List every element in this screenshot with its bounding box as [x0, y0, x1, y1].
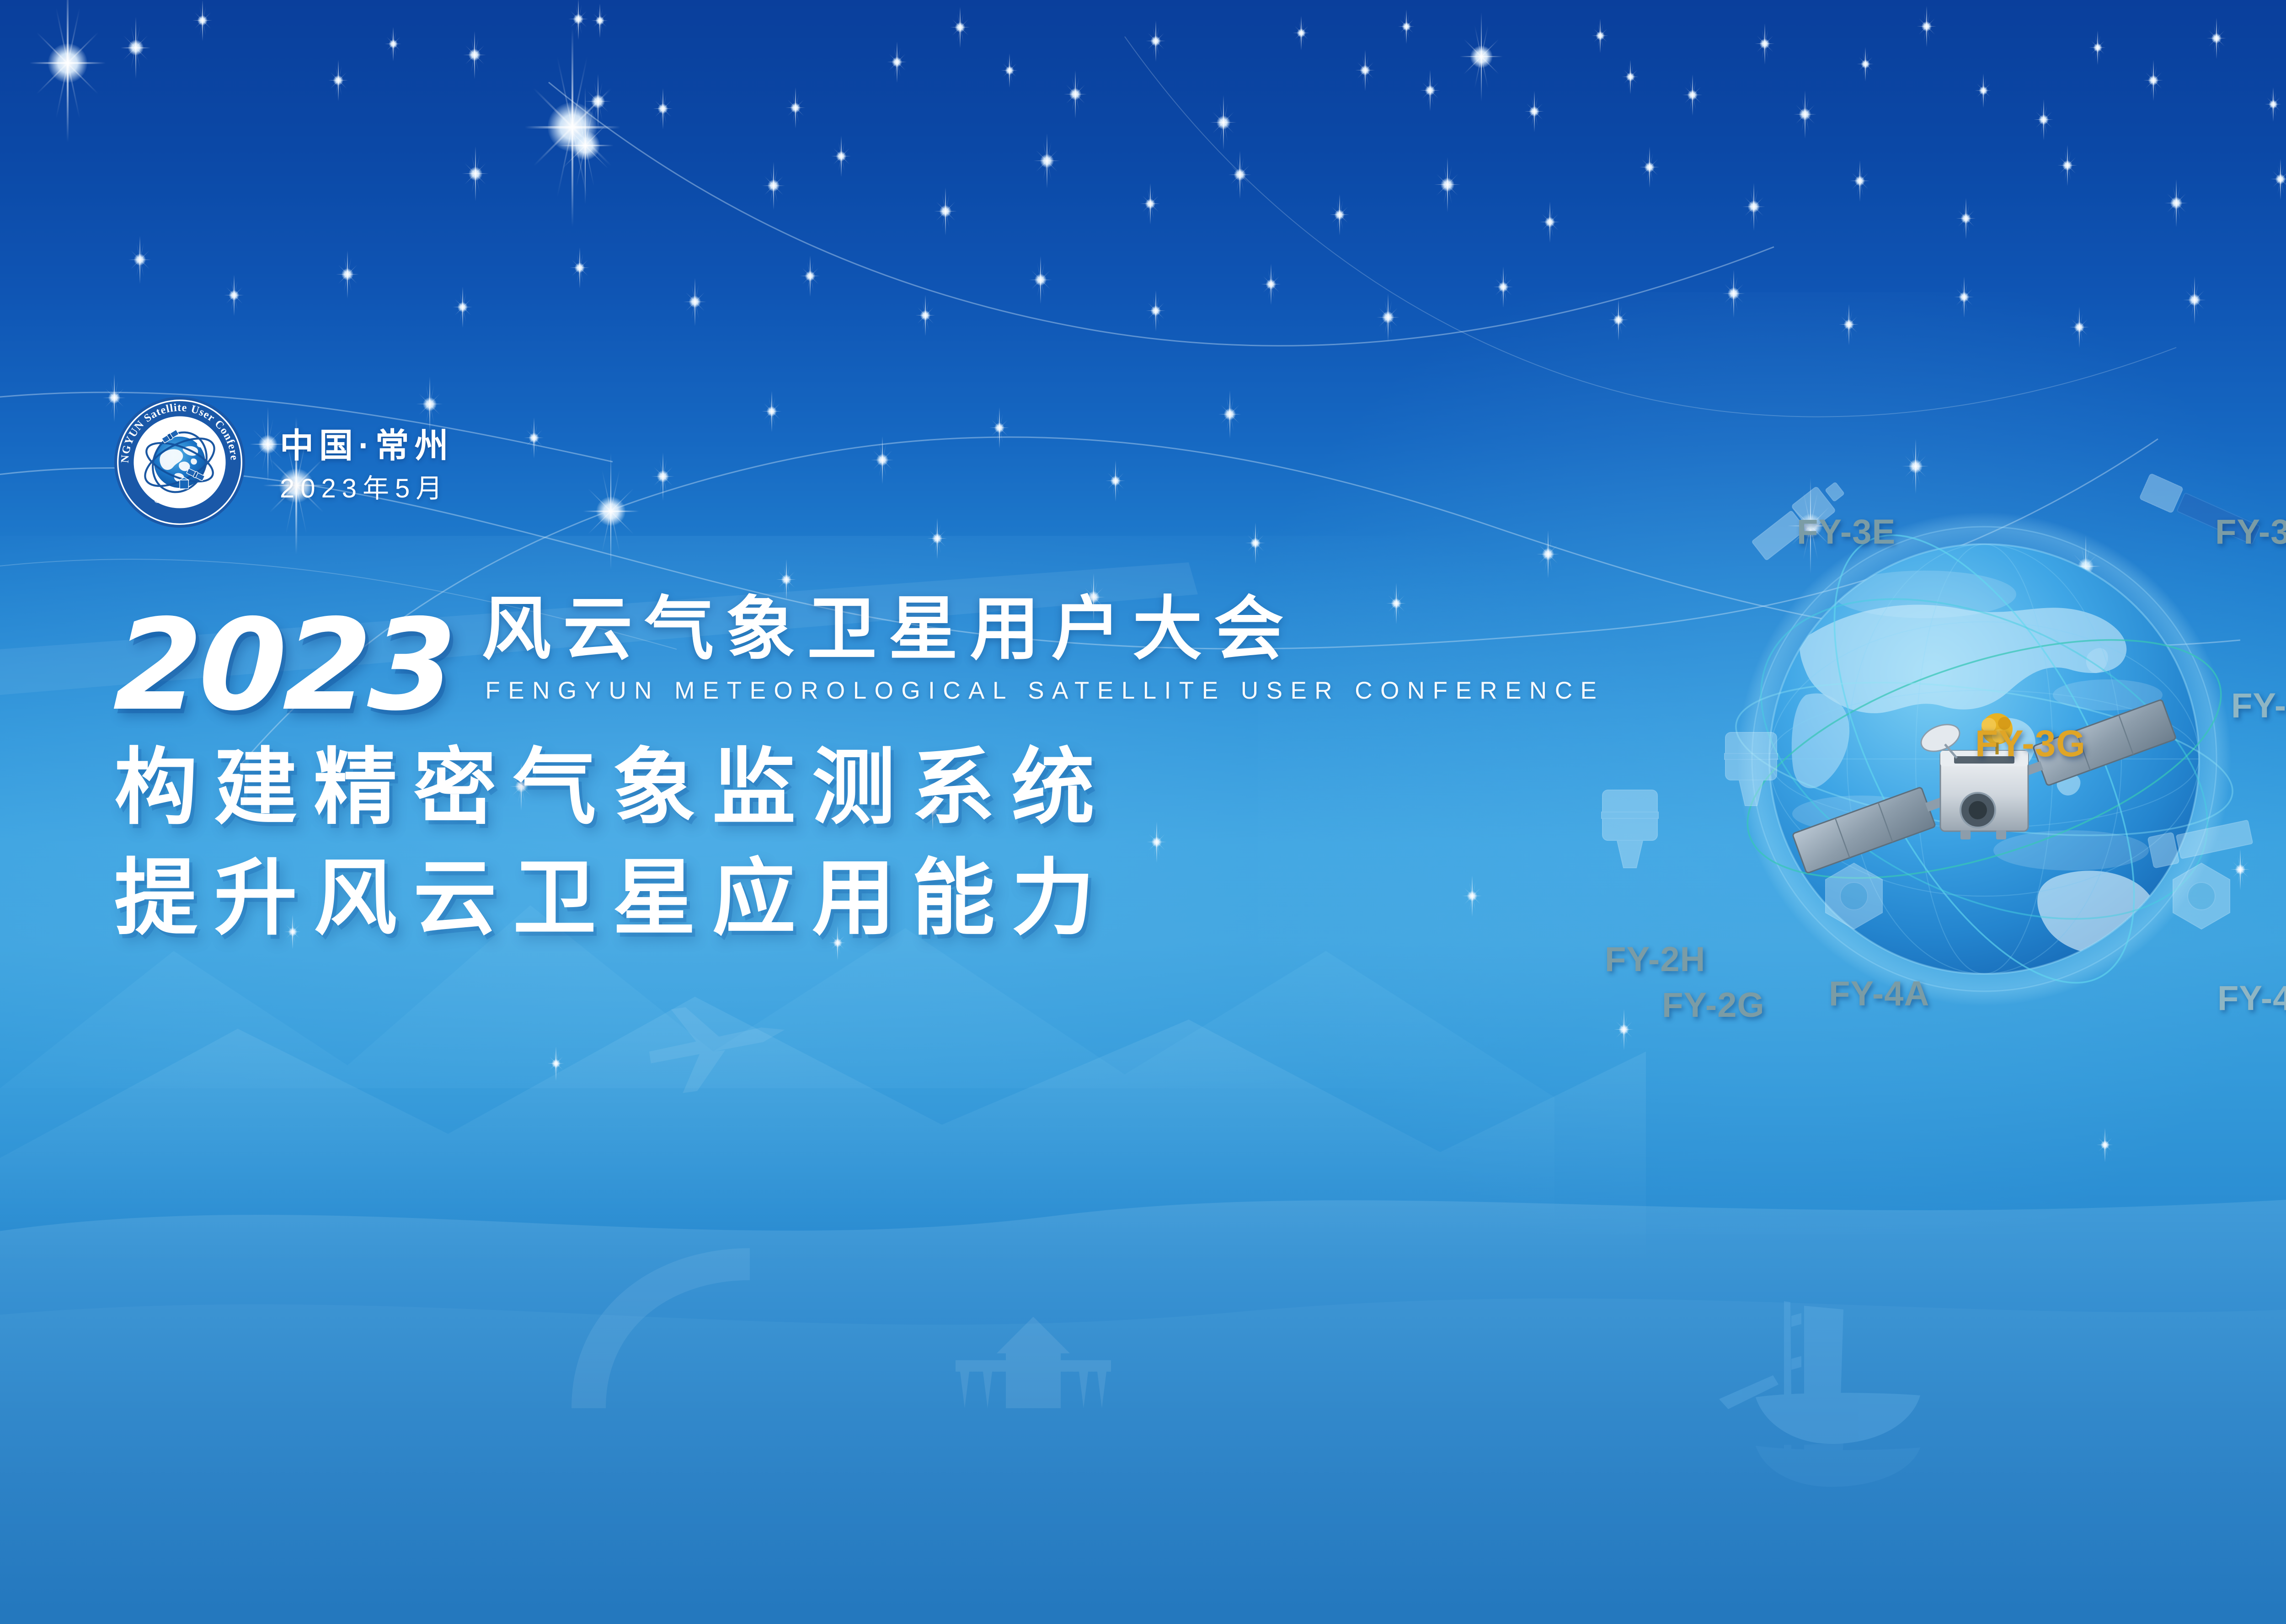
poster-canvas: (function(){ const host=document.current… — [0, 0, 2286, 1624]
location-date: 2023年5月 — [280, 475, 454, 502]
slogan-line-2: 提升风云卫星应用能力 — [114, 846, 1669, 951]
satellite-label-fy-3g: FY-3G — [1975, 722, 2086, 765]
conference-emblem-logo: FENGYUN Satellite User Conference Changz… — [113, 396, 246, 529]
satellite-label-fy-3e: FY-3E — [1797, 512, 1896, 552]
slogan-line-1: 构建精密气象监测系统 — [114, 736, 1669, 840]
satellite-label-fy-4a: FY-4A — [1829, 974, 1929, 1014]
satellite-label-fy-3c: FY-3C — [2215, 512, 2286, 552]
title-english: FENGYUN METEOROLOGICAL SATELLITE USER CO… — [485, 677, 1604, 705]
title-row: 2023 风云气象卫星用户大会 FENGYUN METEOROLOGICAL S… — [114, 594, 1669, 712]
title-year: 2023 — [112, 611, 455, 720]
sailing-boat-silhouette — [1664, 1262, 1975, 1500]
satellite-label-fy-3d: FY-3D — [2231, 686, 2286, 726]
title-block: 2023 风云气象卫星用户大会 FENGYUN METEOROLOGICAL S… — [114, 594, 1669, 950]
title-text-wrap: 风云气象卫星用户大会 FENGYUN METEOROLOGICAL SATELL… — [481, 594, 1604, 712]
location-city: 中国·常州 — [280, 429, 454, 463]
satellite-label-fy-4b: FY-4B — [2217, 978, 2286, 1018]
title-chinese: 风云气象卫星用户大会 — [481, 594, 1604, 664]
satellite-label-fy-2g: FY-2G — [1662, 985, 1765, 1025]
location-block: 中国·常州 2023年5月 — [280, 429, 454, 502]
satellite-label-fy-2h: FY-2H — [1605, 940, 1705, 979]
